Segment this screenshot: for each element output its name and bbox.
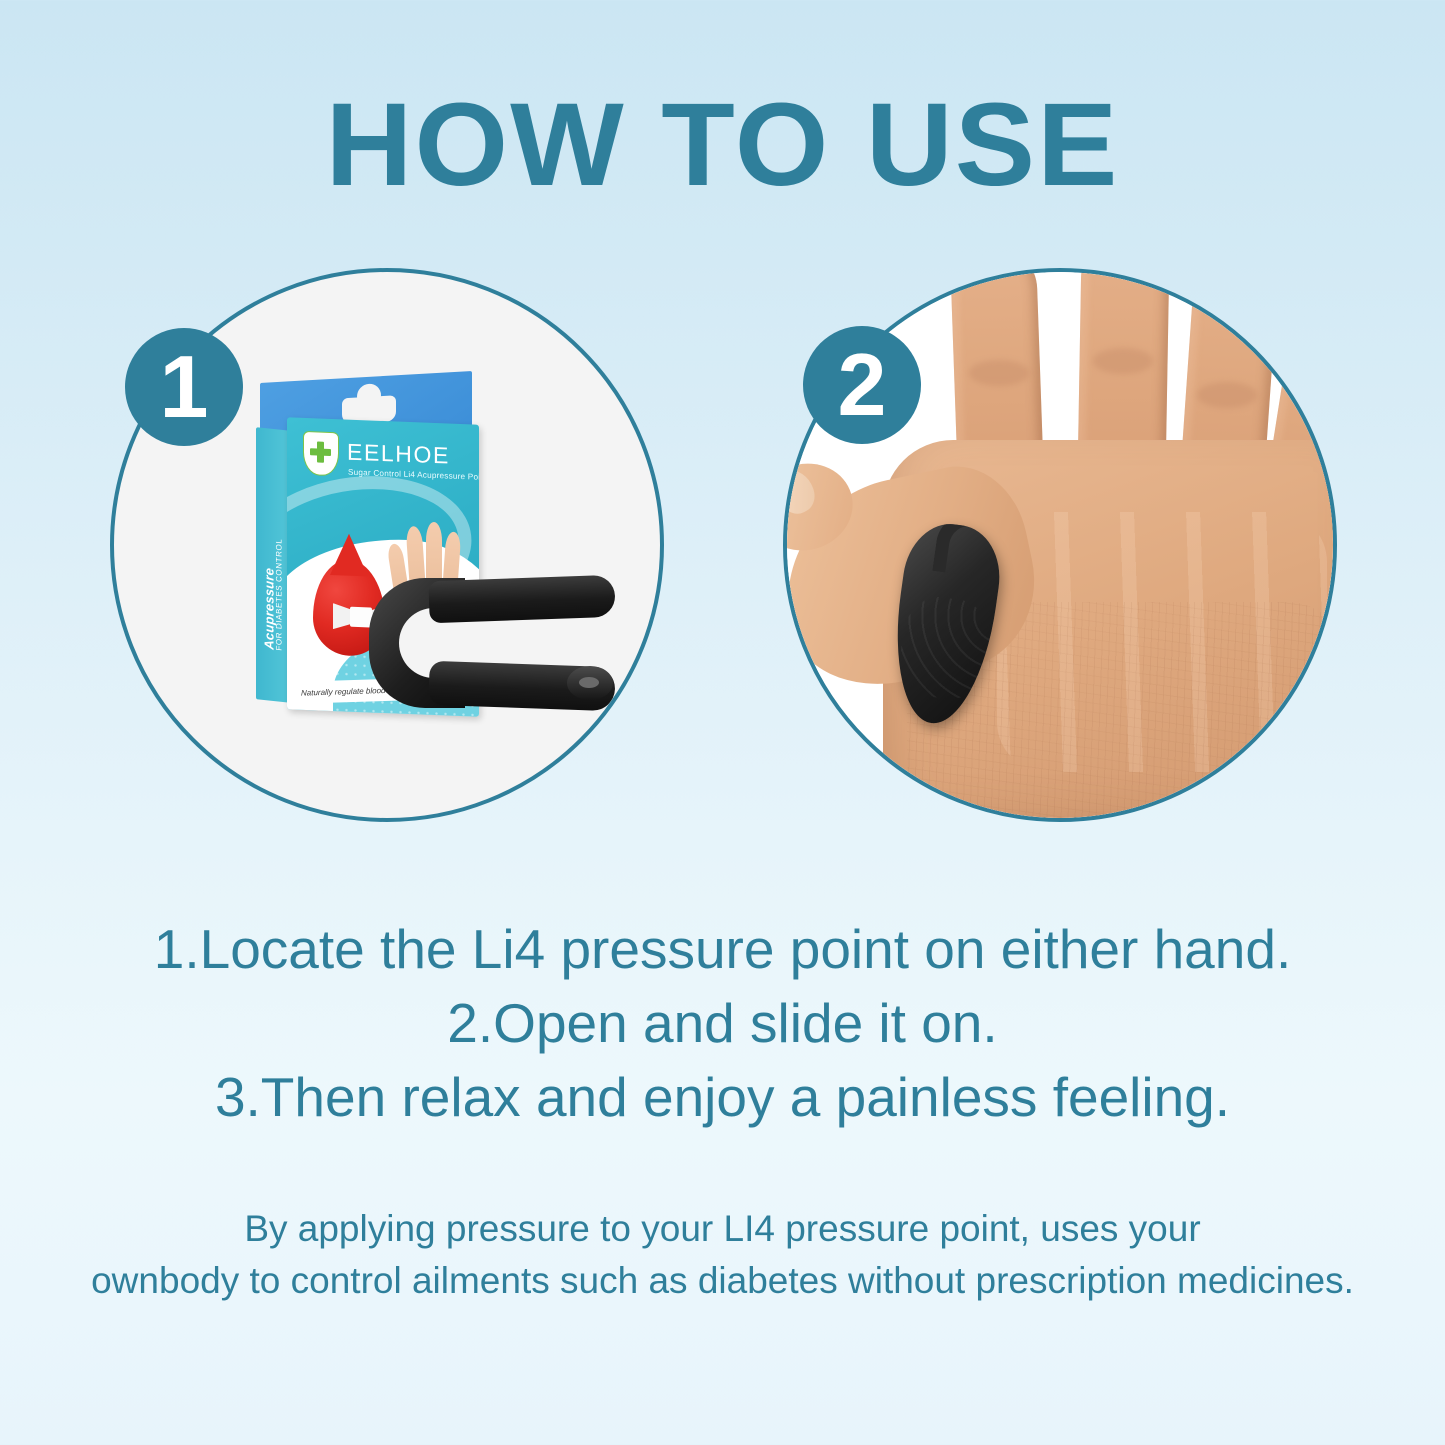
- hand-knuckle: [1197, 382, 1257, 408]
- instruction-line-2: 2.Open and slide it on.: [0, 986, 1445, 1060]
- instruction-line-3: 3.Then relax and enjoy a painless feelin…: [0, 1060, 1445, 1134]
- hand-knuckle: [969, 360, 1029, 386]
- step-2: 2: [783, 268, 1339, 824]
- acupressure-clip-product: [369, 572, 619, 714]
- package-side-sub: FOR DIABETES CONTROL: [275, 480, 283, 651]
- package-side-panel: Acupressure FOR DIABETES CONTROL: [256, 427, 290, 703]
- clip-upper-arm: [428, 575, 615, 623]
- footer-line-1: By applying pressure to your LI4 pressur…: [0, 1203, 1445, 1255]
- footer-line-2: ownbody to control ailments such as diab…: [0, 1255, 1445, 1307]
- step-1-badge: 1: [125, 328, 243, 446]
- bandage-left-wing: [333, 603, 351, 630]
- hand-knuckle: [1093, 348, 1153, 374]
- package-side-text: Acupressure FOR DIABETES CONTROL: [262, 479, 283, 651]
- shield-cross-icon: [303, 431, 339, 476]
- step-1: Acupressure FOR DIABETES CONTROL EELHOE …: [110, 268, 666, 824]
- footer-paragraph: By applying pressure to your LI4 pressur…: [0, 1203, 1445, 1307]
- instructions-list: 1.Locate the Li4 pressure point on eithe…: [0, 912, 1445, 1134]
- package-brand-name: EELHOE: [347, 439, 450, 470]
- page-title: HOW TO USE: [0, 86, 1445, 204]
- step-2-badge: 2: [803, 326, 921, 444]
- clip-pressure-knob: [567, 666, 613, 700]
- instruction-line-1: 1.Locate the Li4 pressure point on eithe…: [0, 912, 1445, 986]
- cross-horizontal-bar: [310, 448, 331, 456]
- steps-gallery: Acupressure FOR DIABETES CONTROL EELHOE …: [0, 268, 1445, 828]
